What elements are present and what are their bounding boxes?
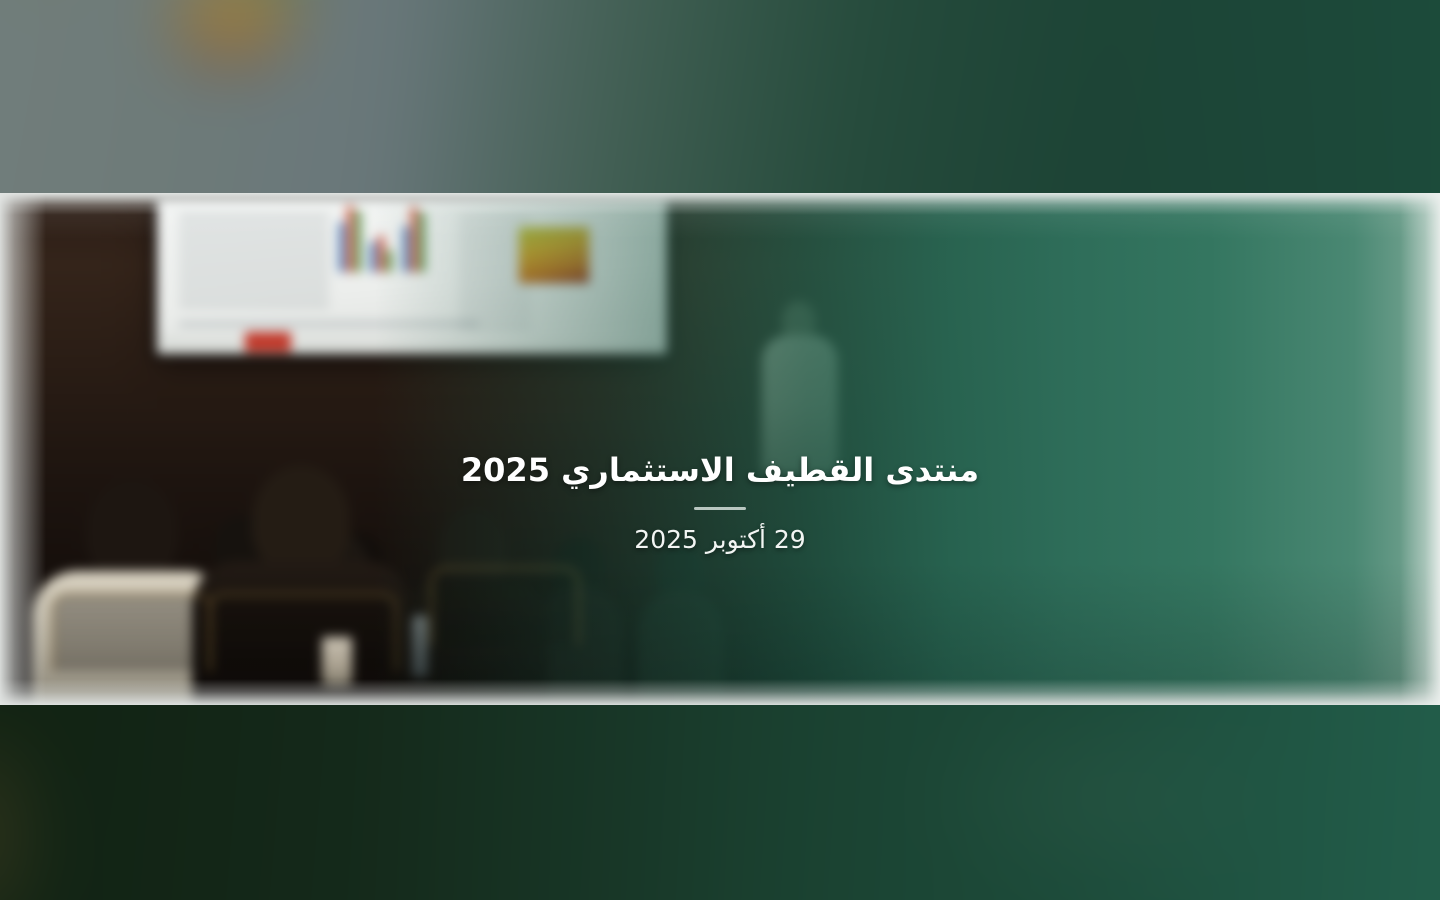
top-edge-fade — [0, 193, 1440, 215]
event-date: 29 أكتوبر 2025 — [0, 523, 1440, 557]
banner-caption: منتدى القطيف الاستثماري 2025 29 أكتوبر 2… — [0, 448, 1440, 557]
banner-stage: منتدى القطيف الاستثماري 2025 29 أكتوبر 2… — [0, 0, 1440, 900]
event-title: منتدى القطيف الاستثماري 2025 — [0, 448, 1440, 492]
bottom-edge-fade — [0, 679, 1440, 705]
title-divider — [694, 507, 746, 510]
